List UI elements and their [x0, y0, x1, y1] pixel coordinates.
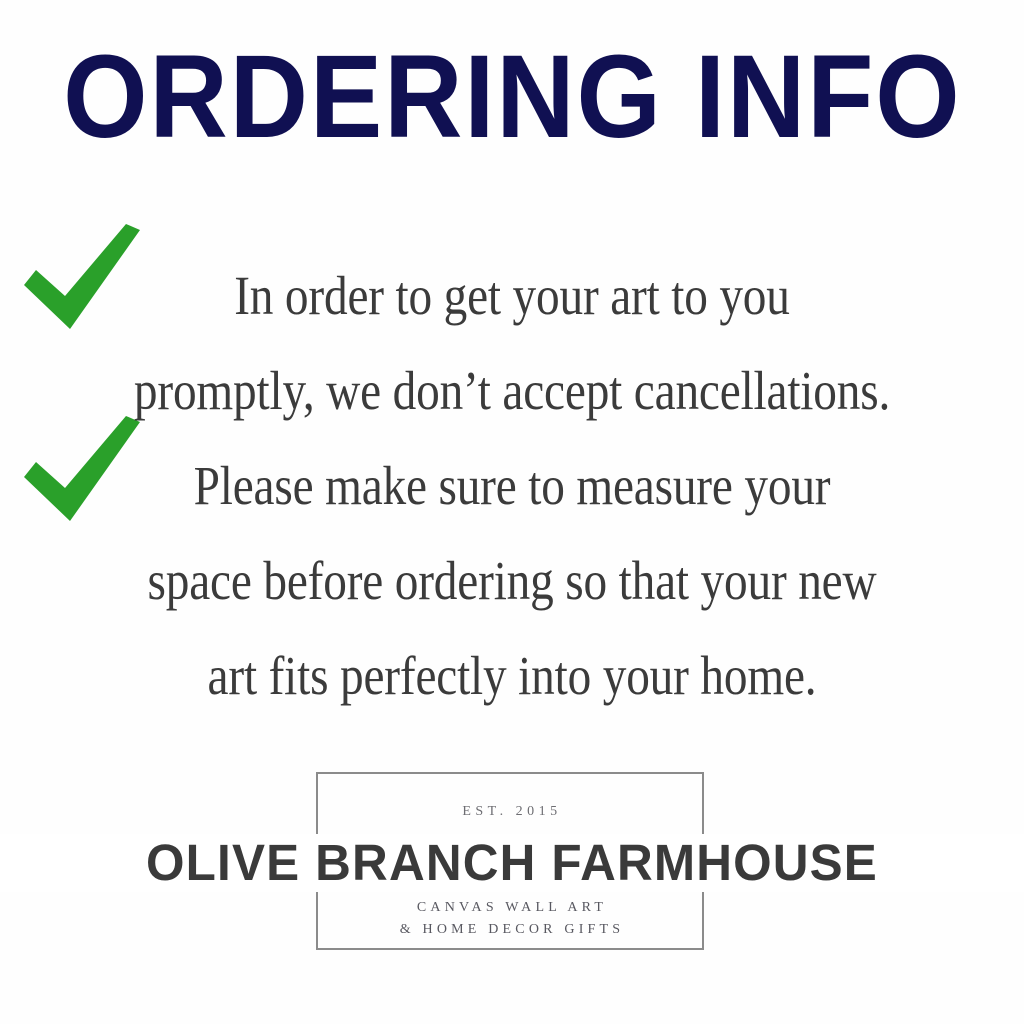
body-copy: In order to get your art to you promptly… [0, 248, 1024, 723]
logo-established-text: EST. 2015 [0, 804, 1024, 820]
logo-brand-name: OLIVE BRANCH FARMHOUSE [15, 834, 1008, 892]
body-line-4: space before ordering so that your new [72, 533, 953, 628]
page-title-container: ORDERING INFO [0, 38, 1024, 156]
body-line-2: promptly, we don’t accept cancellations. [72, 343, 953, 438]
body-line-5: art fits perfectly into your home. [72, 628, 953, 723]
brand-logo: EST. 2015 OLIVE BRANCH FARMHOUSE CANVAS … [0, 760, 1024, 970]
logo-tagline-line-2: & HOME DECOR GIFTS [0, 922, 1024, 938]
ordering-info-graphic: ORDERING INFO In order to get your art t… [0, 0, 1024, 1024]
page-title: ORDERING INFO [63, 38, 961, 156]
body-line-1: In order to get your art to you [72, 248, 953, 343]
logo-tagline-line-1: CANVAS WALL ART [0, 900, 1024, 916]
body-line-3: Please make sure to measure your [72, 438, 953, 533]
